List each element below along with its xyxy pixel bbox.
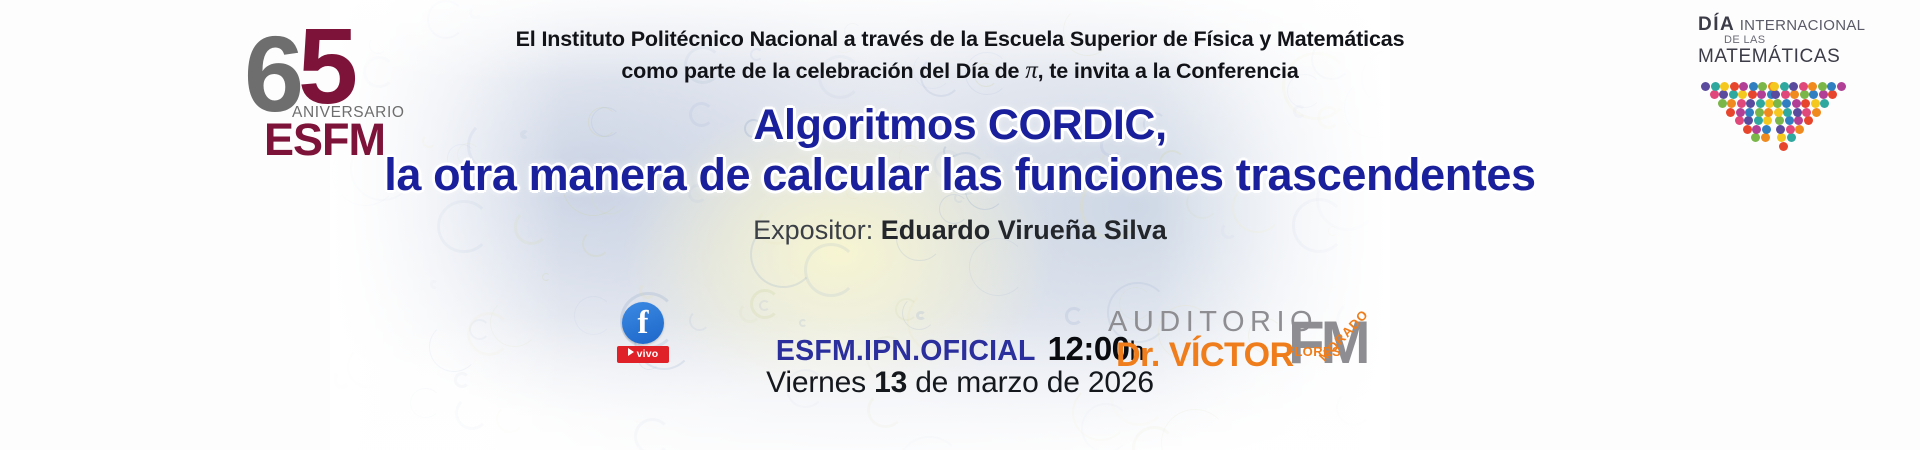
page-title: Algoritmos CORDIC, la otra manera de cal… bbox=[0, 100, 1920, 200]
math-day-dot bbox=[1748, 90, 1757, 99]
speaker-label: Expositor: bbox=[753, 215, 881, 245]
spiral-ornament bbox=[639, 282, 656, 299]
spiral-ornament bbox=[1161, 409, 1229, 450]
math-day-dot bbox=[1729, 90, 1738, 99]
facebook-page-name[interactable]: ESFM.IPN.OFICIAL bbox=[776, 335, 1036, 367]
conference-poster: 6 5 ANIVERSARIO ESFM DÍA INTERNACIONAL D… bbox=[0, 0, 1920, 450]
title-line-1: Algoritmos CORDIC, bbox=[0, 100, 1920, 150]
math-day-dot bbox=[1828, 90, 1837, 99]
spiral-ornament bbox=[1132, 426, 1176, 450]
math-day-dot bbox=[1809, 90, 1818, 99]
title-line-2: la otra manera de calcular las funciones… bbox=[0, 150, 1920, 200]
venue-logo: FM MORADO AUDITORIO Dr. VÍCTOR FLORES bbox=[1108, 300, 1408, 385]
spiral-ornament bbox=[1307, 427, 1318, 438]
spiral-ornament bbox=[897, 436, 962, 450]
header-line-2: como parte de la celebración del Día de … bbox=[0, 55, 1920, 87]
math-day-dot bbox=[1819, 90, 1828, 99]
event-date-day: 13 bbox=[874, 366, 907, 399]
pi-symbol: π bbox=[1025, 57, 1037, 84]
speaker-name: Eduardo Virueña Silva bbox=[881, 215, 1167, 245]
math-day-dot bbox=[1719, 90, 1728, 99]
event-date: Viernes 13 de marzo de 2026 bbox=[0, 366, 1920, 400]
spiral-ornament bbox=[634, 418, 671, 450]
spiral-ornament bbox=[430, 280, 438, 288]
math-day-dot bbox=[1710, 90, 1719, 99]
spiral-ornament bbox=[1317, 262, 1344, 289]
spiral-ornament bbox=[469, 6, 483, 20]
math-day-dot bbox=[1757, 90, 1766, 99]
spiral-ornament bbox=[969, 238, 1027, 296]
spiral-ornament bbox=[496, 405, 524, 433]
venue-auditorio: AUDITORIO bbox=[1108, 306, 1318, 339]
event-date-prefix: Viernes bbox=[766, 366, 874, 399]
math-day-dot bbox=[1738, 90, 1747, 99]
math-day-dot bbox=[1781, 90, 1790, 99]
venue-flores: FLORES bbox=[1286, 344, 1341, 359]
spiral-ornament bbox=[1081, 403, 1131, 450]
math-day-dot bbox=[1790, 90, 1799, 99]
header-line2-suffix: , te invita a la Conferencia bbox=[1038, 59, 1299, 83]
broadcast-details: f vivo ESFM.IPN.OFICIAL12:00h Viernes 13… bbox=[0, 298, 1920, 378]
speaker-line: Expositor: Eduardo Virueña Silva bbox=[0, 215, 1920, 246]
facebook-page-and-time: ESFM.IPN.OFICIAL12:00h bbox=[0, 330, 1920, 368]
header-line-1: El Instituto Politécnico Nacional a trav… bbox=[0, 24, 1920, 55]
spiral-ornament bbox=[542, 273, 550, 281]
math-day-dot bbox=[1771, 90, 1780, 99]
spiral-ornament bbox=[455, 396, 489, 430]
math-day-dot bbox=[1800, 90, 1809, 99]
header-text: El Instituto Politécnico Nacional a trav… bbox=[0, 24, 1920, 87]
spiral-ornament bbox=[804, 243, 858, 297]
header-line2-prefix: como parte de la celebración del Día de bbox=[621, 59, 1025, 83]
venue-doctor-name: Dr. VÍCTOR bbox=[1116, 336, 1294, 375]
